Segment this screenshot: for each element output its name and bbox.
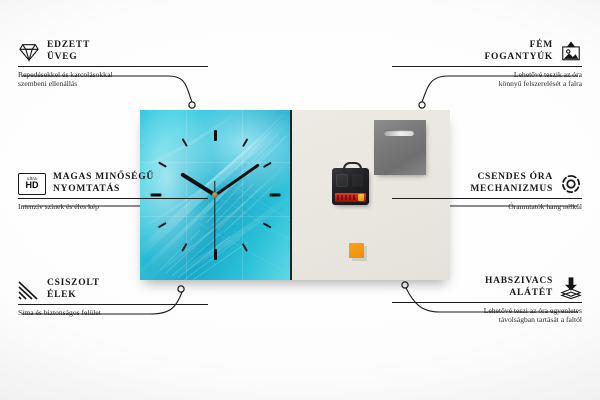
ultra-hd-icon: ultra HD (18, 173, 46, 195)
clock-tick-3 (269, 194, 280, 197)
ultra-hd-icon-main: HD (26, 181, 39, 190)
diamond-icon (18, 41, 40, 63)
gear-icon (560, 173, 582, 195)
battery (335, 193, 366, 202)
clock-minute-hand (214, 163, 259, 196)
feature-polished-edges: CSISZOLT ÉLEK Sima és biztonságos felüle… (18, 278, 208, 317)
feature-divider (392, 302, 582, 303)
battery-label (337, 195, 357, 200)
infographic-canvas: EDZETT ÜVEG Repedésekkel és karcolásokka… (0, 0, 600, 400)
feature-header: CSENDES ÓRA MECHANIZMUS (392, 172, 582, 195)
feature-divider (18, 198, 208, 199)
clock-tick-7 (182, 243, 188, 252)
clock-tick-1 (242, 138, 248, 147)
feature-description: Sima és biztonságos felület (18, 308, 208, 317)
feature-silent-clock-mechanism: CSENDES ÓRA MECHANIZMUS Óramutatók hang … (392, 172, 582, 211)
feature-header: HABSZIVACS ALÁTÉT (392, 276, 582, 299)
feature-title: CSENDES ÓRA MECHANIZMUS (470, 172, 553, 195)
beveled-edge-icon (18, 279, 40, 301)
feature-divider (392, 66, 582, 67)
connector-dot-tempered-glass (189, 102, 195, 108)
feature-divider (392, 198, 582, 199)
feature-description: Repedésekkel és karcolásokkal szembeni e… (18, 70, 208, 89)
hanger-slot (384, 130, 414, 136)
clock-second-hand (214, 195, 215, 253)
feature-header: FÉM FOGANTYÚK (392, 40, 582, 63)
feature-foam-pad: HABSZIVACS ALÁTÉT Lehetővé teszi az óra … (392, 276, 582, 325)
metal-hanger-plate (374, 120, 426, 175)
feature-header: CSISZOLT ÉLEK (18, 278, 208, 301)
feature-title: CSISZOLT ÉLEK (47, 278, 100, 301)
feature-title: FÉM FOGANTYÚK (485, 40, 554, 63)
feature-divider (18, 304, 208, 305)
mechanism-hanging-loop (343, 162, 362, 172)
clock-tick-2 (263, 162, 272, 168)
clock-tick-11 (182, 138, 188, 147)
clock-center-pin (212, 192, 218, 198)
picture-hanger-icon (560, 41, 582, 63)
quartz-clock-mechanism (332, 168, 369, 205)
feature-header: ultra HD MAGAS MINŐSÉGŰ NYOMTATÁS (18, 172, 208, 195)
feature-title: EDZETT ÜVEG (47, 40, 90, 63)
feature-description: Óramutatók hang nélkül (392, 202, 582, 211)
mechanism-groove-right (352, 174, 363, 187)
feature-header: EDZETT ÜVEG (18, 40, 208, 63)
mechanism-groove-left (336, 174, 348, 187)
feature-description: Lehetővé teszi az óra egyenletes távolsá… (392, 306, 582, 325)
feature-description: Lehetővé teszik az óra könnyű felszerelé… (392, 70, 582, 89)
feature-metal-handles: FÉM FOGANTYÚK Lehetővé teszik az óra kön… (392, 40, 582, 89)
feature-title: MAGAS MINŐSÉGŰ NYOMTATÁS (53, 172, 154, 195)
connector-dot-metal-handles (419, 102, 425, 108)
feature-description: Intenzív színek és éles kép (18, 202, 208, 211)
arrow-down-layers-icon (560, 277, 582, 299)
clock-tick-12 (214, 130, 217, 141)
clock-tick-10 (158, 162, 167, 168)
feature-title: HABSZIVACS ALÁTÉT (485, 276, 553, 299)
clock-tick-5 (242, 243, 248, 252)
clock-tick-8 (158, 222, 167, 228)
foam-spacer-pad (349, 243, 364, 258)
feature-divider (18, 66, 208, 67)
feature-high-quality-print: ultra HD MAGAS MINŐSÉGŰ NYOMTATÁS Intenz… (18, 172, 208, 211)
clock-tick-4 (263, 222, 272, 228)
feature-tempered-glass: EDZETT ÜVEG Repedésekkel és karcolásokka… (18, 40, 208, 89)
